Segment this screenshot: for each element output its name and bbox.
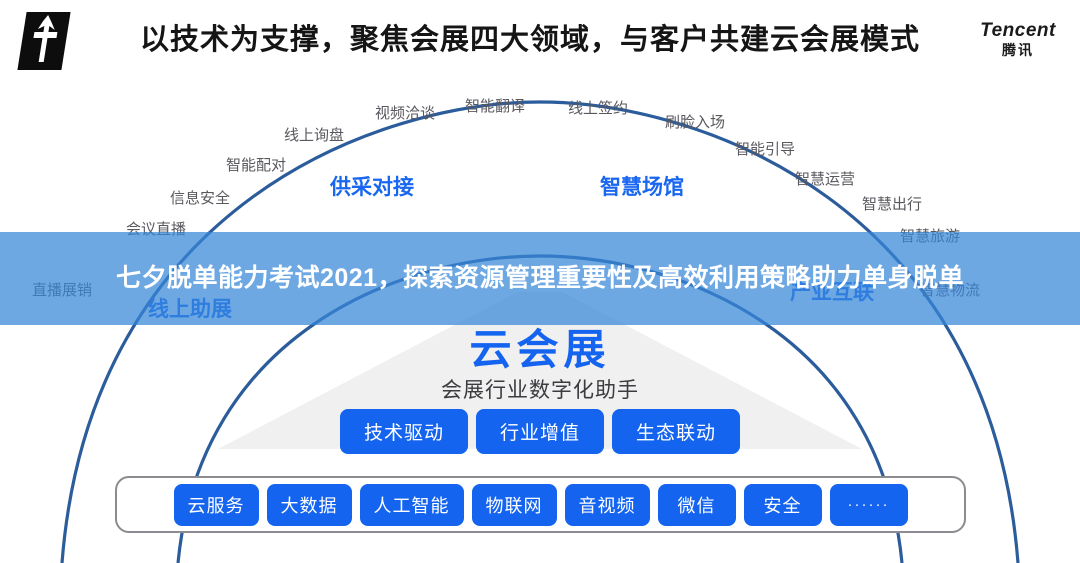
page-root: 以技术为支撑，聚焦会展四大领域，与客户共建云会展模式 Tencent 腾讯 会议… [0,0,1080,563]
tencent-logo: Tencent 腾讯 [976,20,1060,58]
node-label-shualian-ruchang: 刷脸入场 [665,111,725,132]
node-label-zhineng-yindao: 智能引导 [735,138,795,159]
node-label-zhihui-yunying: 智慧运营 [795,168,855,189]
pillar-chip-shengtai-liandong[interactable]: 生态联动 [612,409,740,454]
page-title: 以技术为支撑，聚焦会展四大领域，与客户共建云会展模式 [140,16,860,58]
cloud-exhibition-subtitle: 会展行业数字化助手 [0,374,1080,404]
node-label-xinxi-anquan: 信息安全 [170,187,230,208]
capability-chip-yunfuwu[interactable]: 云服务 [174,484,259,526]
node-label-shipin-qiatan: 视频洽谈 [375,102,435,123]
capability-chip-more[interactable]: ······ [830,484,908,526]
pillar-chip-row: 技术驱动 行业增值 生态联动 [0,409,1080,454]
domain-label-gongcai-duijie: 供采对接 [330,171,414,201]
capability-chip-yinshipin[interactable]: 音视频 [565,484,650,526]
capability-chip-wulianwang[interactable]: 物联网 [472,484,557,526]
node-label-zhineng-fanyi: 智能翻译 [465,95,525,116]
arrow-cross-mark-icon [17,12,70,70]
node-label-zhineng-peidui: 智能配对 [226,154,286,175]
overlay-banner: 七夕脱单能力考试2021，探索资源管理重要性及高效利用策略助力单身脱单 [0,232,1080,325]
capability-chip-weixin[interactable]: 微信 [658,484,736,526]
capability-chip-dashuju[interactable]: 大数据 [267,484,352,526]
pillar-chip-jishu-qudong[interactable]: 技术驱动 [340,409,468,454]
pillar-chip-hangye-zengzhi[interactable]: 行业增值 [476,409,604,454]
cloud-exhibition-title: 云会展 [0,316,1080,377]
capability-chip-anquan[interactable]: 安全 [744,484,822,526]
header-bar: 以技术为支撑，聚焦会展四大领域，与客户共建云会展模式 Tencent 腾讯 [0,0,1080,84]
node-label-zhihui-chuxing: 智慧出行 [862,193,922,214]
node-label-xianshang-xunpan: 线上询盘 [284,124,344,145]
overlay-headline: 七夕脱单能力考试2021，探索资源管理重要性及高效利用策略助力单身脱单 [38,262,1043,295]
domain-label-zhihui-changguan: 智慧场馆 [600,171,684,201]
capability-chip-bar: 云服务 大数据 人工智能 物联网 音视频 微信 安全 ······ [115,476,966,533]
capability-chip-rengong-zhineng[interactable]: 人工智能 [360,484,464,526]
node-label-xianshang-qianyue: 线上签约 [568,97,628,118]
arrow-cross-glyph-icon [17,12,70,70]
tencent-logo-latin: Tencent [976,20,1060,42]
tencent-logo-cn: 腾讯 [976,42,1060,58]
